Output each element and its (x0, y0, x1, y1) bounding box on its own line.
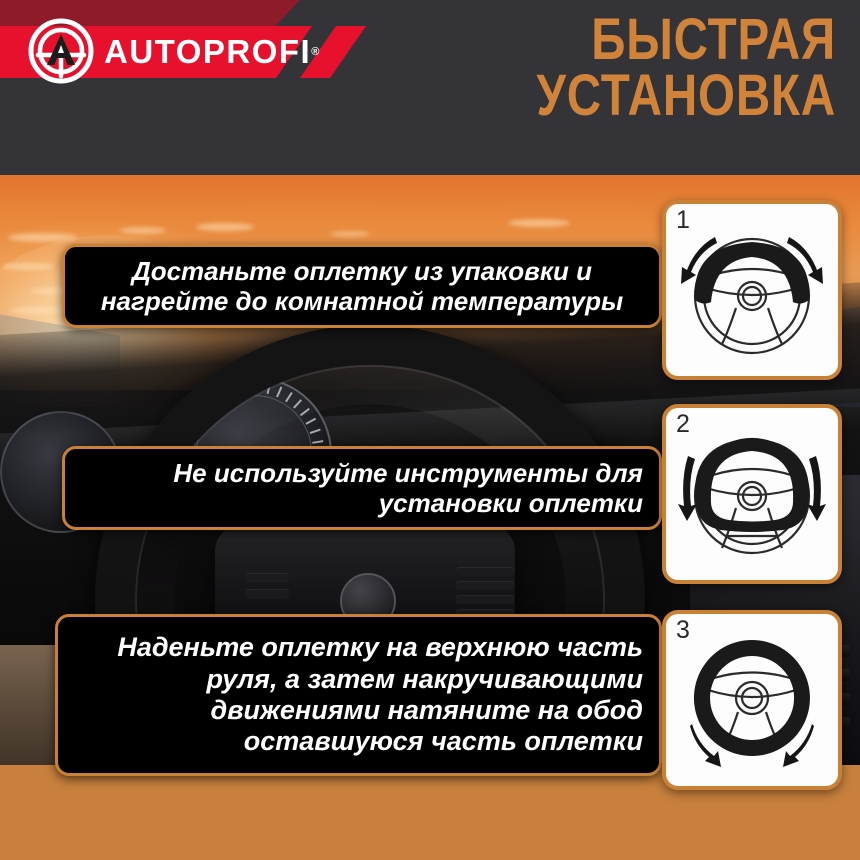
page-title: БЫСТРАЯ УСТАНОВКА (316, 12, 836, 123)
step-1-number: 1 (676, 206, 690, 235)
step-3-illustration-panel: 3 (662, 610, 842, 790)
step-3-number: 3 (676, 616, 690, 645)
step-1-illustration-panel: 1 (662, 200, 842, 380)
title-line-1: БЫСТРАЯ (410, 12, 836, 68)
step-3-callout: Наденьте оплетку на верхнюю часть руля, … (55, 614, 662, 776)
step-2-number: 2 (676, 410, 690, 439)
steering-wheel-cover-complete-arrows-inward-icon (666, 614, 838, 786)
step-3-text: Наденьте оплетку на верхнюю часть руля, … (58, 632, 659, 757)
step-1-text: Достаньте оплетку из упаковки и нагрейте… (65, 256, 659, 316)
promo-banner: AUTOPROFI® БЫСТРАЯ УСТАНОВКА Достаньте о… (0, 0, 860, 860)
step-2-text: Не используйте инструменты для установки… (65, 458, 659, 518)
title-line-2: УСТАНОВКА (410, 68, 836, 124)
autoprofi-logo-icon (28, 18, 94, 84)
steering-wheel-cover-top-arrows-down-icon (666, 204, 838, 376)
step-2-illustration-panel: 2 (662, 404, 842, 584)
step-1-callout: Достаньте оплетку из упаковки и нагрейте… (62, 244, 662, 328)
brand-name: AUTOPROFI (104, 33, 311, 70)
steering-wheel-cover-sides-arrows-down-icon (666, 408, 838, 580)
step-2-callout: Не используйте инструменты для установки… (62, 446, 662, 530)
brand-wordmark: AUTOPROFI® (104, 32, 311, 72)
